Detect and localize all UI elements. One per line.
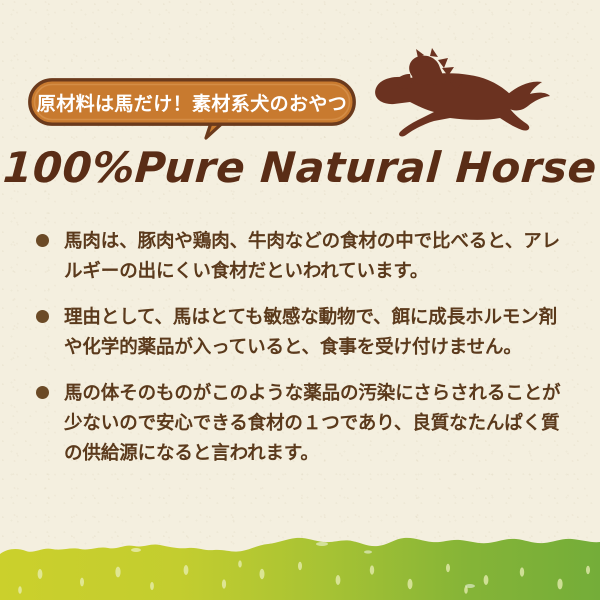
galloping-horse-silhouette-icon	[366, 48, 550, 140]
bullet-list: 馬肉は、豚肉や鶏肉、牛肉などの食材の中で比べると、アレルギーの出にくい食材だとい…	[34, 226, 574, 484]
poster-canvas: 原材料は馬だけ！素材系犬のおやつ	[0, 0, 600, 600]
list-item-text: 馬の体そのものがこのような薬品の汚染にさらされることが少ないので安心できる食材の…	[64, 382, 560, 463]
list-item-text: 馬肉は、豚肉や鶏肉、牛肉などの食材の中で比べると、アレルギーの出にくい食材だとい…	[64, 230, 560, 281]
bullet-dot-icon	[36, 386, 49, 399]
list-item: 理由として、馬はとても敏感な動物で、餌に成長ホルモン剤や化学的薬品が入っていると…	[34, 302, 574, 362]
list-item: 馬の体そのものがこのような薬品の汚染にさらされることが少ないので安心できる食材の…	[34, 378, 574, 468]
list-item: 馬肉は、豚肉や鶏肉、牛肉などの食材の中で比べると、アレルギーの出にくい食材だとい…	[34, 226, 574, 286]
list-item-text: 理由として、馬はとても敏感な動物で、餌に成長ホルモン剤や化学的薬品が入っていると…	[64, 306, 557, 357]
bullet-dot-icon	[36, 234, 49, 247]
ribbon-label: 原材料は馬だけ！素材系犬のおやつ	[28, 78, 356, 126]
grass-band-decoration	[0, 528, 600, 600]
page-title: 100%Pure Natural Horse	[0, 143, 600, 192]
bullet-dot-icon	[36, 310, 49, 323]
ribbon-banner: 原材料は馬だけ！素材系犬のおやつ	[28, 78, 356, 126]
